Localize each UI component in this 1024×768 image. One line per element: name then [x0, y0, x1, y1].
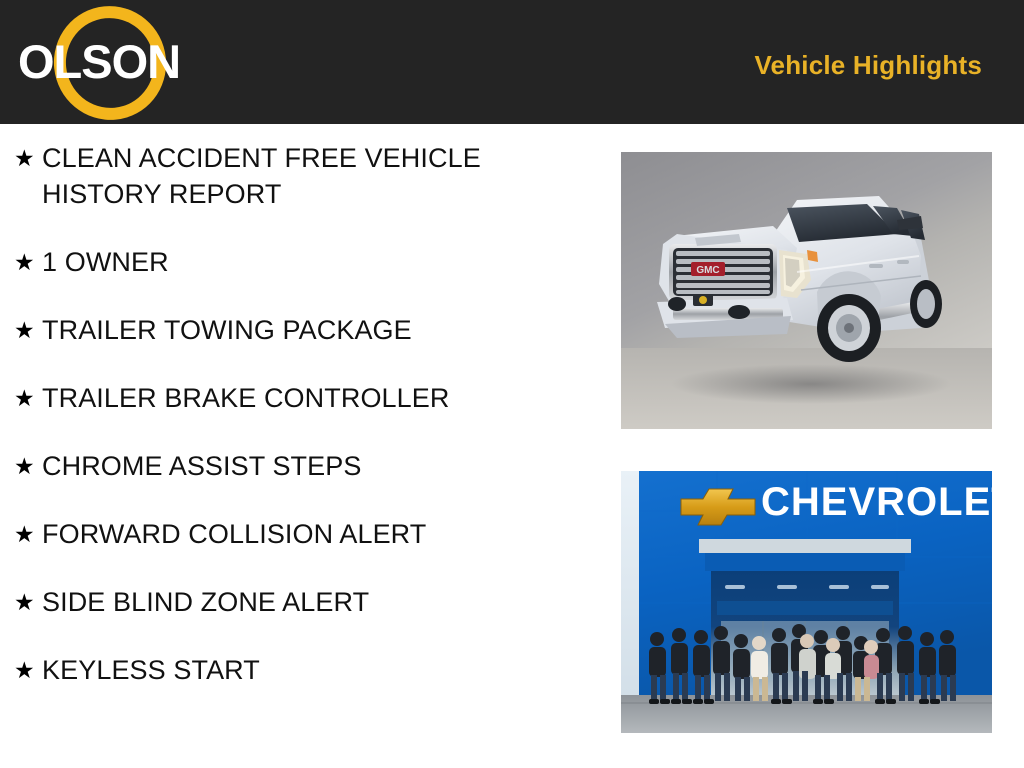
star-bullet-icon: ★	[14, 312, 42, 348]
list-item: ★ TRAILER TOWING PACKAGE	[0, 312, 600, 348]
star-bullet-icon: ★	[14, 448, 42, 484]
highlight-label: TRAILER TOWING PACKAGE	[42, 312, 542, 348]
highlight-label: SIDE BLIND ZONE ALERT	[42, 584, 542, 620]
dealership-photo[interactable]: CHEVROLET	[621, 471, 992, 733]
vehicle-photo-image: GMC	[621, 152, 992, 429]
star-bullet-icon: ★	[14, 140, 42, 176]
list-item: ★ TRAILER BRAKE CONTROLLER	[0, 380, 600, 416]
chevrolet-sign-text: CHEVROLET	[761, 480, 992, 524]
list-item: ★ 1 OWNER	[0, 244, 600, 280]
page-title: Vehicle Highlights	[754, 50, 982, 81]
highlight-label: FORWARD COLLISION ALERT	[42, 516, 542, 552]
list-item: ★ CLEAN ACCIDENT FREE VEHICLE HISTORY RE…	[0, 140, 600, 212]
page-header: OLSON Vehicle Highlights	[0, 0, 1024, 124]
vehicle-photo[interactable]: GMC	[621, 152, 992, 429]
list-item: ★ SIDE BLIND ZONE ALERT	[0, 584, 600, 620]
svg-text:GMC: GMC	[696, 265, 719, 276]
highlight-label: CLEAN ACCIDENT FREE VEHICLE HISTORY REPO…	[42, 140, 542, 212]
star-bullet-icon: ★	[14, 516, 42, 552]
highlight-label: KEYLESS START	[42, 652, 542, 688]
logo-wordmark: OLSON	[18, 38, 218, 86]
list-item: ★ FORWARD COLLISION ALERT	[0, 516, 600, 552]
star-bullet-icon: ★	[14, 244, 42, 280]
list-item: ★ CHROME ASSIST STEPS	[0, 448, 600, 484]
olson-logo[interactable]: OLSON	[18, 0, 218, 124]
highlight-label: CHROME ASSIST STEPS	[42, 448, 542, 484]
dealership-photo-image: CHEVROLET	[621, 471, 992, 733]
star-bullet-icon: ★	[14, 652, 42, 688]
vehicle-highlights-page: OLSON Vehicle Highlights ★ CLEAN ACCIDEN…	[0, 0, 1024, 768]
star-bullet-icon: ★	[14, 380, 42, 416]
highlight-label: 1 OWNER	[42, 244, 542, 280]
staff-group	[649, 624, 956, 704]
star-bullet-icon: ★	[14, 584, 42, 620]
list-item: ★ KEYLESS START	[0, 652, 600, 688]
highlight-label: TRAILER BRAKE CONTROLLER	[42, 380, 542, 416]
vehicle-highlights-list: ★ CLEAN ACCIDENT FREE VEHICLE HISTORY RE…	[0, 140, 600, 720]
